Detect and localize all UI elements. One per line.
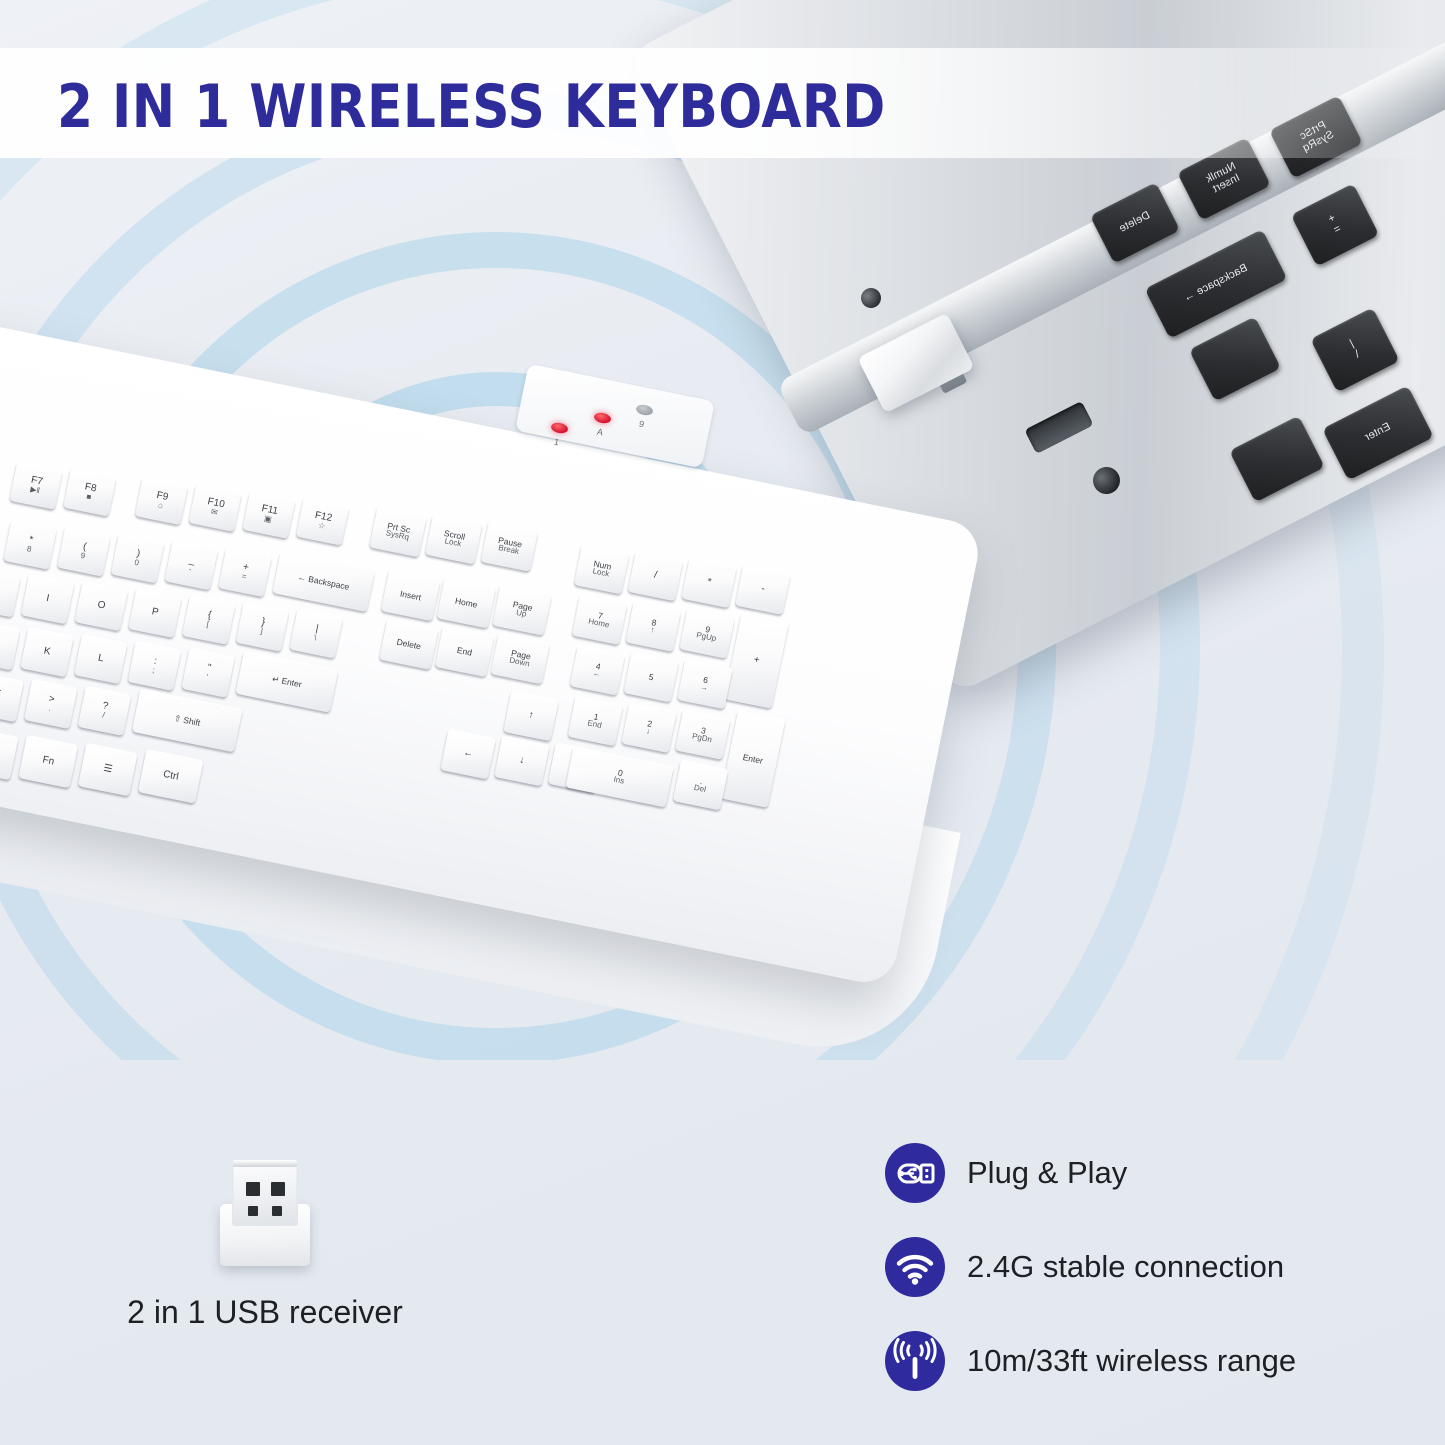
key-numpad-5: 5 [623,652,678,703]
key-bracket-left: {[ [182,594,235,644]
key-printscreen: Prt ScSysRq [369,506,426,557]
key-k: K [20,627,73,677]
key-numpad-2: 2↓ [621,702,676,753]
receiver-top-lip [233,1160,297,1167]
key-scrolllock: ScrollLock [425,513,482,564]
usb-receiver-caption: 2 in 1 USB receiver [55,1294,475,1331]
key-numpad-8: 8↑ [626,601,681,652]
key-arrow-down: ↓ [494,736,549,787]
key-o: O [75,581,128,631]
feature-item-stable-connection: 2.4G stable connection [885,1220,1425,1314]
key-end: End [435,626,494,678]
wifi-signal-icon [885,1237,945,1297]
feature-label: 10m/33ft wireless range [967,1343,1296,1379]
key-ctrl-right: Ctrl [138,749,204,804]
feature-label: Plug & Play [967,1155,1127,1191]
key-quote: "' [181,647,234,697]
key-delete: Delete [379,618,438,670]
key-enter: ↵ Enter [236,650,339,712]
key-l: L [74,634,127,684]
key-minus: _- [165,540,218,590]
key-numpad-divide: / [628,550,683,601]
product-photo-scene: Delete NumlkInsert PrtScSysRq Backspace … [0,0,1445,1060]
key-numpad-enter: Enter [720,710,785,808]
usb-plug-icon [885,1143,945,1203]
key-comma: <, [0,672,24,722]
receiver-pin-3 [248,1206,258,1216]
key-f8: F8■ [63,468,116,516]
key-f9: F9⌂ [135,477,188,525]
key-backslash: |\ [289,608,342,658]
receiver-pin-2 [271,1182,285,1196]
feature-label: 2.4G stable connection [967,1249,1284,1285]
key-8: *8 [3,519,56,569]
product-marketing-image: Delete NumlkInsert PrtScSysRq Backspace … [0,0,1445,1445]
key-f11: F11▣ [242,490,295,538]
receiver-metal-shell [232,1162,298,1226]
key-bracket-right: }] [236,601,289,651]
key-equals: += [218,547,271,597]
key-f7: F7▶‖ [9,461,62,509]
key-numpad-4: 4← [570,645,625,696]
key-numpad-1: 1End [568,695,623,746]
feature-item-wireless-range: 10m/33ft wireless range [885,1314,1425,1408]
key-pausebreak: PauseBreak [481,521,538,572]
key-shift-right: ⇧ Shift [132,688,243,752]
key-f12: F12☆ [296,497,349,545]
key-backspace: ← Backspace [272,552,374,612]
key-numpad-0: 0Ins [566,746,674,807]
receiver-pin-1 [246,1182,260,1196]
key-numpad-minus: - [735,564,790,615]
key-period: >. [24,679,77,729]
key-numpad-7: 7Home [572,594,627,645]
broadcast-antenna-icon [885,1331,945,1391]
key-insert: Insert [381,570,440,622]
key-0: )0 [111,533,164,583]
key-u: U [0,567,21,617]
feature-list: Plug & Play 2.4G stable connection [885,1126,1425,1408]
key-alt: Alt [0,726,19,781]
key-numlock: NumLock [574,544,629,595]
key-numpad-3: 3PgDn [675,709,730,760]
receiver-pin-4 [272,1206,282,1216]
key-home: Home [437,577,496,629]
usb-receiver-block: 2 in 1 USB receiver [55,1140,475,1331]
key-pagedown: PageDown [491,633,550,685]
key-semicolon: :; [128,641,181,691]
key-slash: ?/ [78,686,131,736]
key-j: J [0,620,20,670]
key-pageup: PageUp [492,584,551,636]
key-numpad-6: 6→ [677,658,732,709]
key-numpad-plus: + [724,613,789,709]
usb-nano-receiver-icon [206,1140,324,1272]
key-arrow-left: ← [440,729,495,780]
feature-item-plug-and-play: Plug & Play [885,1126,1425,1220]
key-numpad-9: 9PgUp [679,608,734,659]
bottom-info-section: 2 in 1 USB receiver [0,1080,1445,1445]
key-fn: Fn [18,735,78,788]
key-f10: F10✉ [189,484,242,532]
key-numpad-del: .Del [673,760,728,811]
key-arrow-up: ↑ [503,690,558,741]
key-9: (9 [57,526,110,576]
page-title: 2 IN 1 WIRELESS KEYBOARD [57,72,886,142]
key-p: P [128,588,181,638]
key-numpad-multiply: * [681,557,736,608]
key-menu: ☰ [78,743,138,796]
key-i: I [21,574,74,624]
